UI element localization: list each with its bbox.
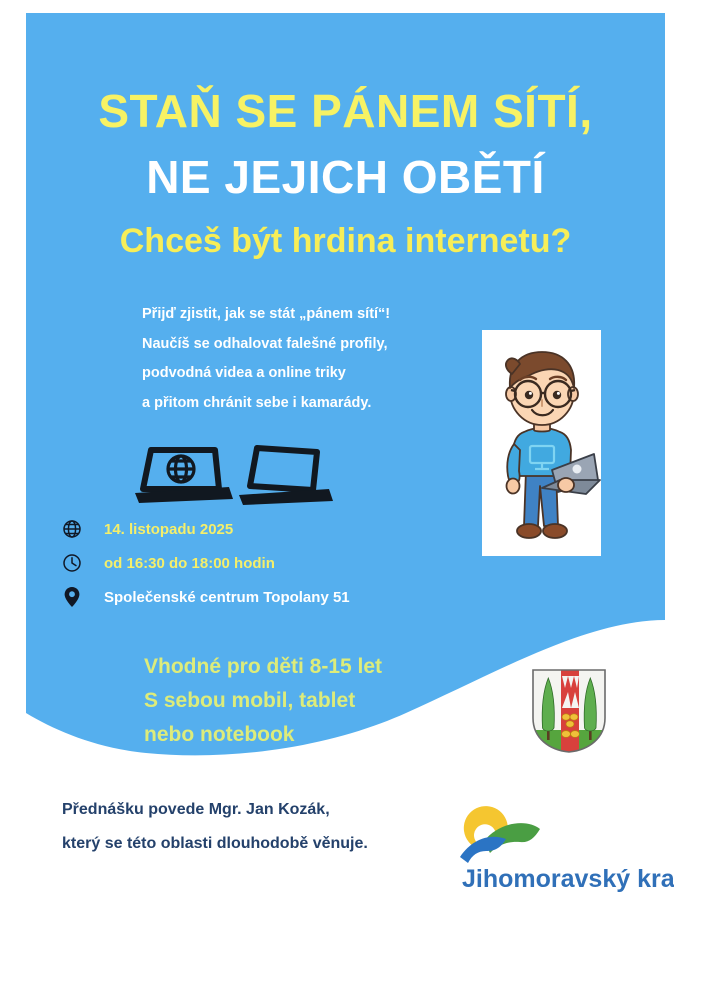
poster-page: STAŇ SE PÁNEM SÍTÍ, NE JEJICH OBĚTÍ Chce… xyxy=(0,0,704,995)
topolany-coat-of-arms xyxy=(523,666,615,756)
lecturer-note: Přednášku povede Mgr. Jan Kozák, který s… xyxy=(62,793,368,860)
two-laptops-icon xyxy=(133,437,338,509)
body-copy-line-1: Přijď zjistit, jak se stát „pánem sítí“! xyxy=(142,300,442,330)
lecturer-line-1: Přednášku povede Mgr. Jan Kozák, xyxy=(62,793,368,827)
body-copy-line-4: a přitom chránit sebe i kamarády. xyxy=(142,389,442,419)
detail-text-location: Společenské centrum Topolany 51 xyxy=(92,589,350,606)
headline-line-2: NE JEJICH OBĚTÍ xyxy=(26,154,665,200)
detail-text-time: od 16:30 do 18:00 hodin xyxy=(92,555,275,572)
body-copy-line-3: podvodná videa a online triky xyxy=(142,359,442,389)
headline-line-3: Chceš být hrdina internetu? xyxy=(26,224,665,258)
clock-icon xyxy=(62,551,92,575)
body-copy: Přijď zjistit, jak se stát „pánem sítí“!… xyxy=(142,300,442,419)
headline-line-1: STAŇ SE PÁNEM SÍTÍ, xyxy=(26,88,665,134)
boy-with-laptop-illustration xyxy=(482,330,601,556)
event-details-list: 14. listopadu 2025 od 16:30 do 18:00 hod… xyxy=(62,512,482,614)
map-pin-icon xyxy=(62,585,92,609)
body-copy-line-2: Naučíš se odhalovat falešné profily, xyxy=(142,330,442,360)
globe-icon xyxy=(62,517,92,541)
detail-text-date: 14. listopadu 2025 xyxy=(92,521,233,538)
headline-block: STAŇ SE PÁNEM SÍTÍ, NE JEJICH OBĚTÍ Chce… xyxy=(26,88,665,258)
detail-row-location: Společenské centrum Topolany 51 xyxy=(62,580,482,614)
detail-row-time: od 16:30 do 18:00 hodin xyxy=(62,546,482,580)
audience-requirements-block: Vhodné pro děti 8-15 let S sebou mobil, … xyxy=(144,650,382,752)
detail-row-date: 14. listopadu 2025 xyxy=(62,512,482,546)
logo-wordmark: Jihomoravský kraj xyxy=(462,865,674,893)
audience-line-1: Vhodné pro děti 8-15 let xyxy=(144,650,382,684)
lecturer-line-2: který se této oblasti dlouhodobě věnuje. xyxy=(62,827,368,861)
jihomoravsky-kraj-logo: Jihomoravský kraj xyxy=(452,795,674,895)
audience-line-3: nebo notebook xyxy=(144,718,382,752)
audience-line-2: S sebou mobil, tablet xyxy=(144,684,382,718)
